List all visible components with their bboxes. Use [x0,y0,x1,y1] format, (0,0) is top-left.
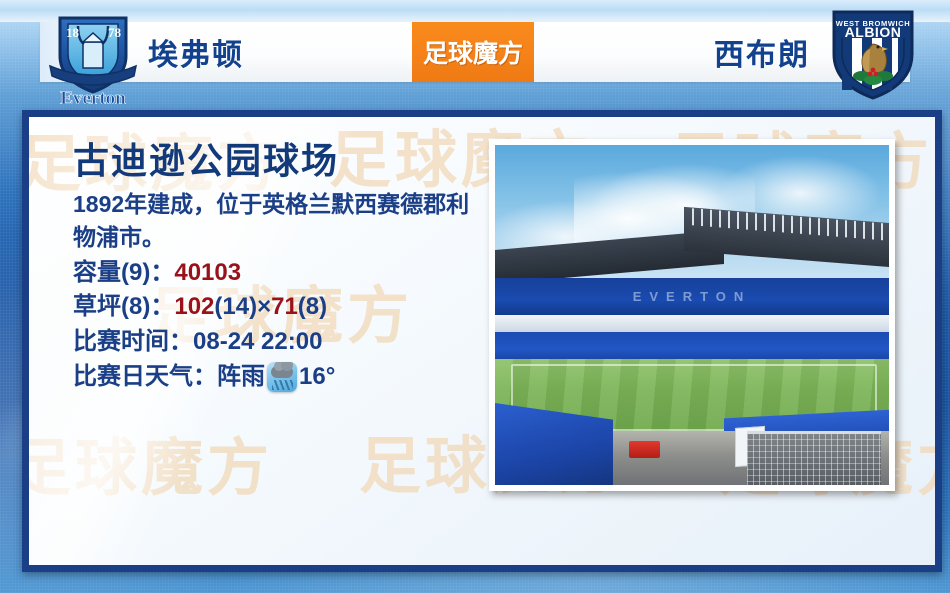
everton-crest-icon: 18 78 Everton [38,4,148,104]
pitch-multiply-sign: × [257,290,271,325]
cloud-shape [271,366,293,378]
pitch-label: 草坪(8)： [73,290,174,325]
brand-logo[interactable]: 足球魔方 [412,22,534,82]
stadium-info-card: 足球魔方 足球魔方 足球魔方 足球魔方 足球魔方 足球魔方 足球魔方 足球魔方 … [22,110,942,572]
wba-crest-line2: ALBION [845,24,902,40]
wba-crest-icon: WEST BROMWICH ALBION [818,6,928,102]
pitch-width-value: 71 [271,290,298,325]
watermark: 足球魔方 [29,417,273,507]
pitch-row: 草坪(8)： 102 (14) × 71 (8) [73,290,493,325]
weather-row: 比赛日天气： 阵雨 16° [73,360,493,395]
goodison-park-photo: EVERTON [489,139,895,491]
pitch-length-value: 102 [174,290,214,325]
everton-crest-year-left: 18 [66,25,80,40]
weather-label: 比赛日天气： [73,360,217,395]
photo-stand-concourse [495,315,889,332]
brand-logo-label: 足球魔方 [423,34,523,70]
everton-crest: 18 78 Everton [38,4,148,104]
match-time-label: 比赛时间： [73,325,193,360]
match-time-row: 比赛时间： 08-24 22:00 [73,325,493,360]
stadium-info-screen: 18 78 Everton 埃弗顿 足球魔方 西布朗 WEST BROMWICH… [0,0,950,593]
everton-crest-wordmark: Everton [60,88,126,104]
photo-lower-stand [495,332,889,363]
west-bromwich-albion-crest: WEST BROMWICH ALBION [818,6,928,102]
everton-crest-year-right: 78 [108,25,122,40]
stadium-description: 1892年建成，位于英格兰默西赛德郡利物浦市。 [73,188,473,253]
photo-stand-lettering: EVERTON [495,281,889,312]
weather-condition: 阵雨 [217,360,265,395]
stadium-info-block: 古迪逊公园球场 1892年建成，位于英格兰默西赛德郡利物浦市。 容量(9)： 4… [73,139,493,395]
match-time-value: 08-24 22:00 [193,325,322,360]
stadium-title: 古迪逊公园球场 [73,139,493,182]
rain-streaks [272,380,293,390]
shower-rain-icon [267,362,297,392]
capacity-label: 容量(9)： [73,256,174,291]
weather-temperature: 16° [299,360,335,395]
stadium-photo-image: EVERTON [495,145,889,485]
pitch-width-rating: (8) [298,290,327,325]
capacity-value: 40103 [174,256,241,291]
capacity-row: 容量(9)： 40103 [73,256,493,291]
away-team-name: 西布朗 [714,30,810,74]
photo-fence [747,431,881,485]
photo-red-equipment-box [629,441,661,458]
pitch-length-rating: (14) [214,290,257,325]
home-team-name: 埃弗顿 [148,30,244,74]
